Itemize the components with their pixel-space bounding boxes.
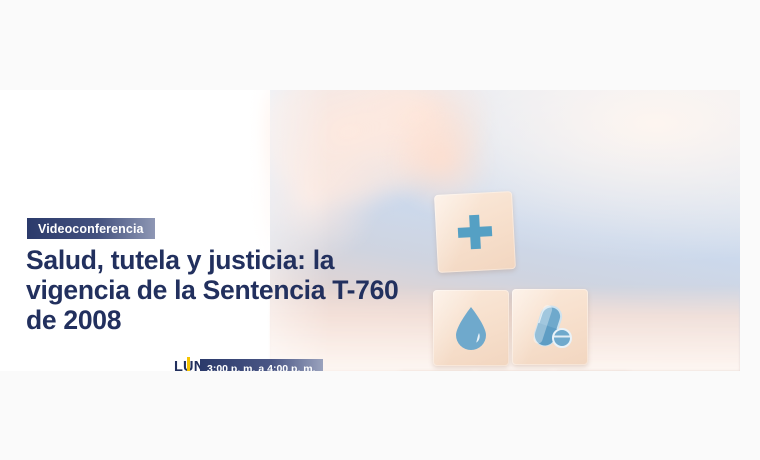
block-medical-cross xyxy=(434,191,516,273)
block-water-drop xyxy=(433,290,509,366)
medical-cross-icon xyxy=(452,209,498,255)
date-time-block: LUNES 22 DE SEPTIEMBRE 3:00 p. m. a 4:00… xyxy=(26,358,326,371)
event-time-label: 3:00 p. m. a 4:00 p. m. xyxy=(207,363,316,372)
vertical-divider xyxy=(187,357,190,371)
page-root: Inscripciones: Videoconferencia Salud, t… xyxy=(0,0,760,460)
block-pill xyxy=(512,289,588,365)
event-title: Salud, tutela y justicia: la vigencia de… xyxy=(26,246,416,336)
pill-capsule-icon xyxy=(527,304,573,350)
event-banner: Inscripciones: Videoconferencia Salud, t… xyxy=(0,90,740,371)
videoconferencia-badge: Videoconferencia xyxy=(27,218,155,239)
event-time-badge: 3:00 p. m. a 4:00 p. m. xyxy=(200,359,323,371)
water-drop-icon xyxy=(452,305,490,351)
videoconferencia-label: Videoconferencia xyxy=(38,222,144,236)
